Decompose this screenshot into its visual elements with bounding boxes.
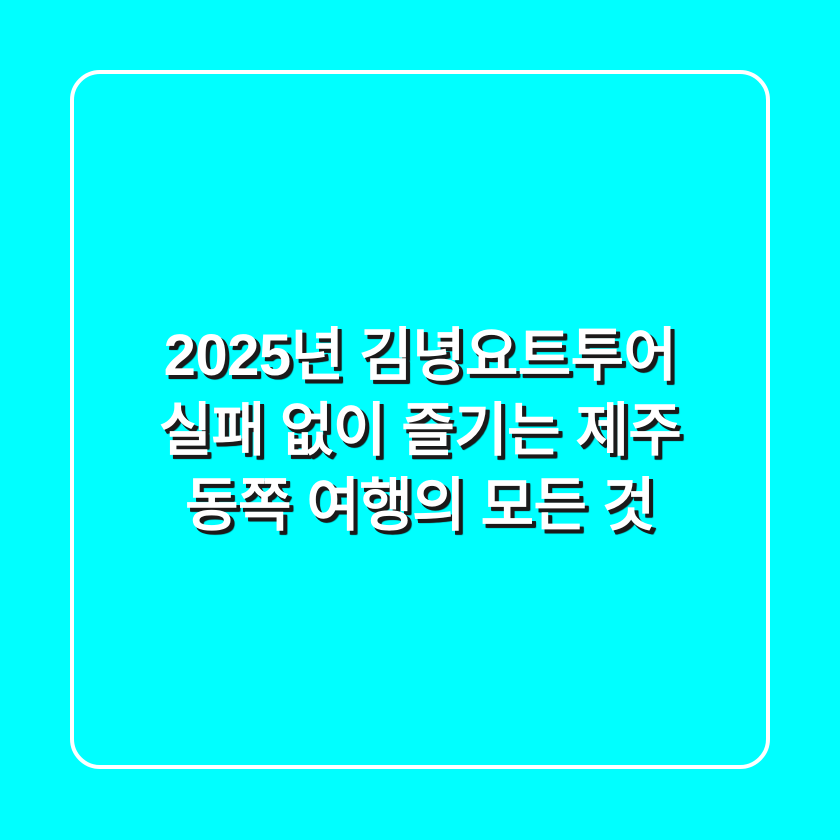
title-line-3: 동쪽 여행의 모든 것: [0, 468, 840, 543]
title-line-1: 2025년 김녕요트투어: [0, 318, 840, 393]
title-line-2: 실패 없이 즐기는 제주: [0, 393, 840, 468]
thumbnail-card: 2025년 김녕요트투어 실패 없이 즐기는 제주 동쪽 여행의 모든 것: [0, 0, 840, 840]
title-block: 2025년 김녕요트투어 실패 없이 즐기는 제주 동쪽 여행의 모든 것: [0, 318, 840, 543]
